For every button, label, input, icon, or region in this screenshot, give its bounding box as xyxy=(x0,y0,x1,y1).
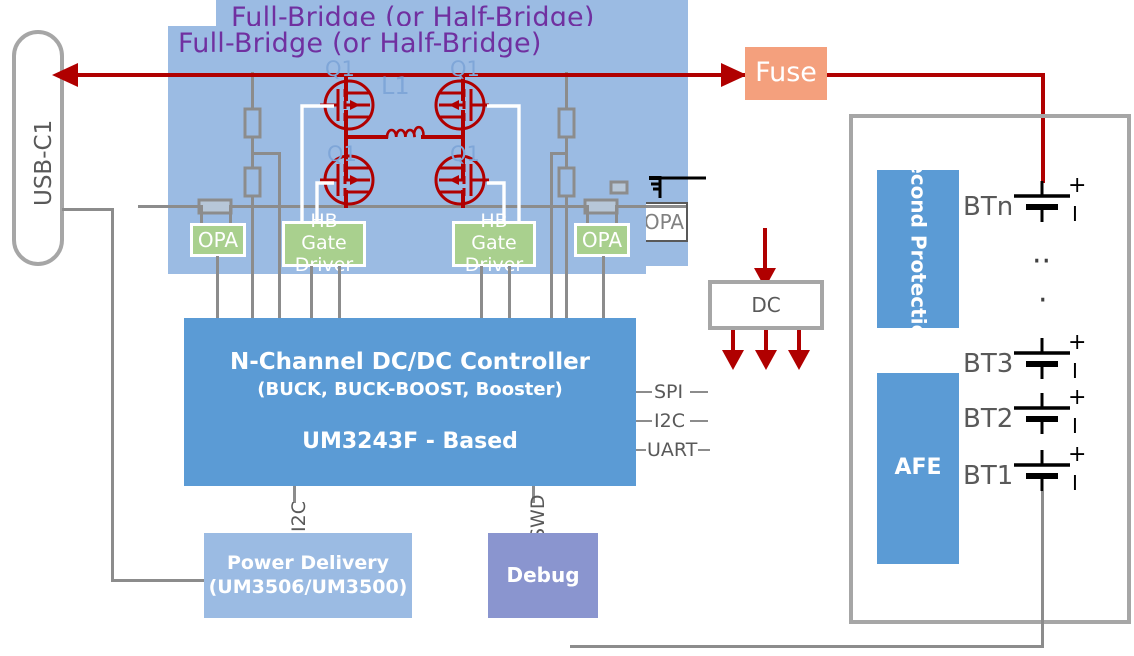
bus-label-i2c: I2C xyxy=(654,410,685,432)
power-delivery-part-numbers: (UM3506/UM3500) xyxy=(209,576,408,599)
dcdc-controller-block[interactable]: N-Channel DC/DC Controller (BUCK, BUCK-B… xyxy=(184,318,636,486)
wire-tap-left-to-ctrl xyxy=(278,256,281,318)
svg-text:+: + xyxy=(1068,385,1086,410)
wire-opa-left-to-ctrl xyxy=(216,256,219,318)
dc-output-arrow-2 xyxy=(755,350,777,370)
dc-block[interactable]: DC xyxy=(708,280,824,330)
opa-block-right[interactable]: OPA xyxy=(574,223,630,257)
ghost-opa-block: OPA xyxy=(640,202,688,242)
mosfet-q1-top-right xyxy=(431,77,489,133)
dc-output-arrow-3 xyxy=(788,350,810,370)
second-protection-label: Second Protection xyxy=(906,146,930,353)
controller-part-number: UM3243F - Based xyxy=(302,429,518,456)
inductor-l1-coil xyxy=(386,112,424,138)
battery-cell-bt2: + I xyxy=(1014,393,1084,435)
svg-text:I: I xyxy=(1072,471,1078,495)
wire-divider-left-to-ctrl xyxy=(251,256,254,318)
divider-left-resistor-1 xyxy=(244,108,262,138)
wire-fuse-to-pack-h xyxy=(827,73,1045,77)
divider-left-tap-h xyxy=(251,152,281,155)
battery-label-btn: BTn xyxy=(963,192,1013,222)
divider-left-resistor-2 xyxy=(244,167,262,197)
wire-pack-return-v xyxy=(1041,491,1044,647)
battery-cell-bt3: + I xyxy=(1014,338,1084,380)
shunt-resistor-right xyxy=(584,199,618,215)
power-delivery-block[interactable]: Power Delivery (UM3506/UM3500) xyxy=(204,533,412,618)
wire-gd-right-pin1-to-ctrl xyxy=(480,266,483,318)
hb-gate-driver-right[interactable]: HB Gate Driver xyxy=(452,221,536,267)
afe-block[interactable]: AFE xyxy=(877,373,959,564)
battery-label-bt2: BT2 xyxy=(963,404,1013,434)
battery-label-bt1: BT1 xyxy=(963,461,1013,491)
hb-gate-driver-left[interactable]: HB Gate Driver xyxy=(282,221,366,267)
shunt-resistor-left xyxy=(198,199,232,215)
wire-usb-to-pd-h1 xyxy=(62,208,114,211)
wire-tap-right-to-ctrl xyxy=(550,256,553,318)
bus-spi-line-right xyxy=(690,391,708,393)
bridge-panel-front-title: Full-Bridge (or Half-Bridge) xyxy=(178,28,542,59)
svg-text:+: + xyxy=(1068,330,1086,355)
wire-usb-to-pd-h2 xyxy=(111,579,206,582)
opa-right-tap-a xyxy=(586,205,589,225)
bus-label-spi: SPI xyxy=(654,381,683,403)
usb-c1-label: USB-C1 xyxy=(31,120,57,206)
opa-block-left[interactable]: OPA xyxy=(190,223,246,257)
bus-spi-line-left xyxy=(636,391,652,393)
controller-title: N-Channel DC/DC Controller xyxy=(230,348,590,376)
inductor-l1-label: L1 xyxy=(381,72,410,100)
battery-label-bt3: BT3 xyxy=(963,349,1013,379)
power-rail-arrow-usb xyxy=(52,63,82,89)
fuse-block[interactable]: Fuse xyxy=(745,47,827,100)
bus-label-i2c-down: I2C xyxy=(288,501,310,532)
svg-text:+: + xyxy=(1068,173,1086,198)
controller-subtitle: (BUCK, BUCK-BOOST, Booster) xyxy=(257,379,562,401)
bus-label-uart: UART xyxy=(647,439,697,461)
battery-ellipsis-dot: · xyxy=(1038,290,1048,311)
svg-text:I: I xyxy=(1072,202,1078,226)
wire-gd-left-pin1-to-ctrl xyxy=(310,266,313,318)
svg-text:+: + xyxy=(1068,442,1086,467)
battery-cell-bt1: + I xyxy=(1014,450,1084,492)
debug-block[interactable]: Debug xyxy=(488,533,598,618)
wire-opa-right-to-ctrl xyxy=(602,256,605,318)
svg-text:I: I xyxy=(1072,359,1078,383)
inductor-lead-right xyxy=(421,135,465,139)
wire-gd-right-pin2-to-ctrl xyxy=(508,266,511,318)
mosfet-label-bottom-right: Q1 xyxy=(450,142,480,166)
bus-i2c-line-right xyxy=(690,420,708,422)
wire-gd-left-pin2-to-ctrl xyxy=(338,266,341,318)
second-protection-block[interactable]: Second Protection xyxy=(877,170,959,328)
power-delivery-title: Power Delivery xyxy=(227,552,389,575)
wire-usb-to-pd-v xyxy=(111,208,114,582)
battery-ellipsis: ·· xyxy=(1032,251,1051,272)
battery-cell-btn: + I xyxy=(1014,181,1084,223)
wire-divider-right-to-ctrl xyxy=(565,256,568,318)
divider-left-wire-top xyxy=(251,72,254,108)
bus-uart-line-right xyxy=(698,449,710,451)
opa-right-tap-b xyxy=(615,205,618,225)
shunt-resistor-ghost xyxy=(610,181,628,195)
opa-left-tap-b xyxy=(229,205,232,225)
divider-right-wire-top xyxy=(565,72,568,108)
bus-uart-line-left xyxy=(636,449,646,451)
mosfet-label-top-left: Q1 xyxy=(325,57,355,81)
mosfet-label-top-right: Q1 xyxy=(450,57,480,81)
opa-left-tap-a xyxy=(200,205,203,225)
wire-pack-return-h xyxy=(570,645,1044,648)
power-rail-arrow-fuse xyxy=(715,63,747,89)
dc-output-arrow-1 xyxy=(722,350,744,370)
svg-text:I: I xyxy=(1072,414,1078,438)
diagram-canvas: USB-C1 Full-Bridge (or Half-Bridge) Q1 O… xyxy=(0,0,1134,656)
bus-i2c-line-left xyxy=(636,420,652,422)
